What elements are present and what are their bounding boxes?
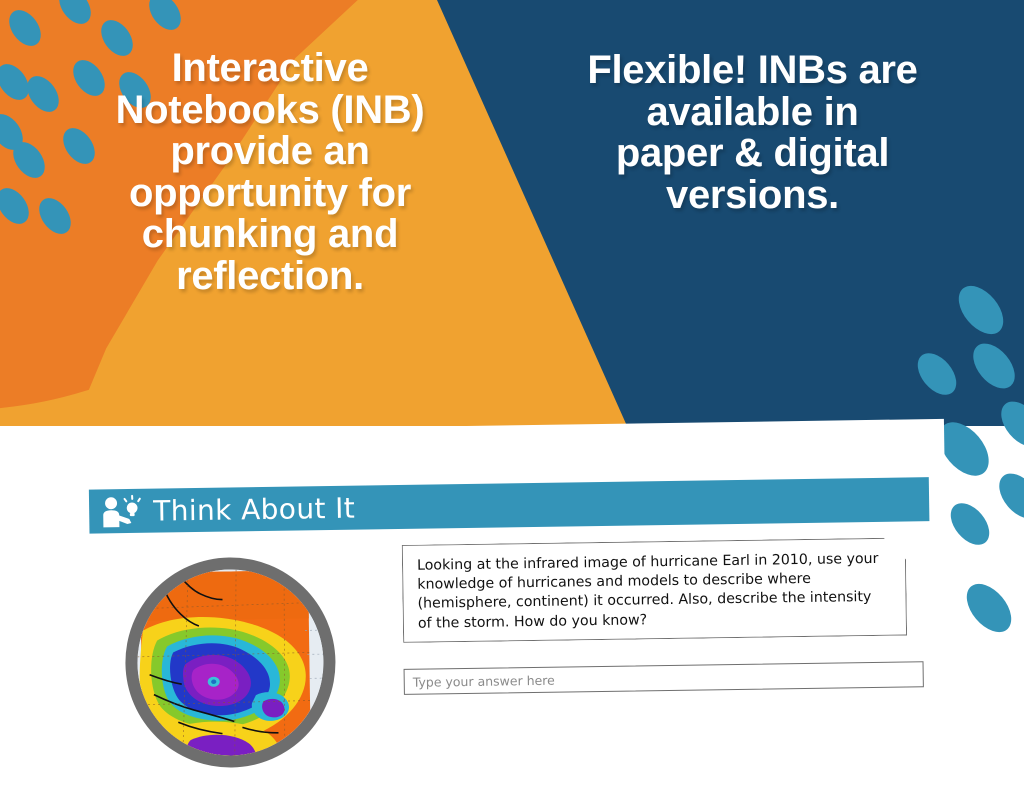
section-header-bar: Think About It — [89, 477, 930, 533]
question-text: Looking at the infrared image of hurrica… — [417, 550, 888, 634]
slide-canvas: Interactive Notebooks (INB) provide an o… — [0, 0, 1024, 791]
answer-input-placeholder: Type your answer here — [413, 672, 555, 689]
hurricane-figure — [124, 556, 337, 769]
answer-input[interactable]: Type your answer here — [404, 661, 924, 695]
person-with-lightbulb-icon — [99, 492, 148, 531]
right-headline: Flexible! INBs are available in paper & … — [555, 50, 950, 216]
left-headline: Interactive Notebooks (INB) provide an o… — [60, 48, 480, 298]
decor-dot-br-6 — [991, 466, 1024, 526]
worksheet-card: Think About It — [60, 419, 949, 791]
decor-dot-br-5 — [943, 496, 997, 552]
decor-dot-br-7 — [958, 576, 1020, 641]
section-title: Think About It — [153, 491, 355, 527]
question-note: Looking at the infrared image of hurrica… — [402, 537, 907, 642]
